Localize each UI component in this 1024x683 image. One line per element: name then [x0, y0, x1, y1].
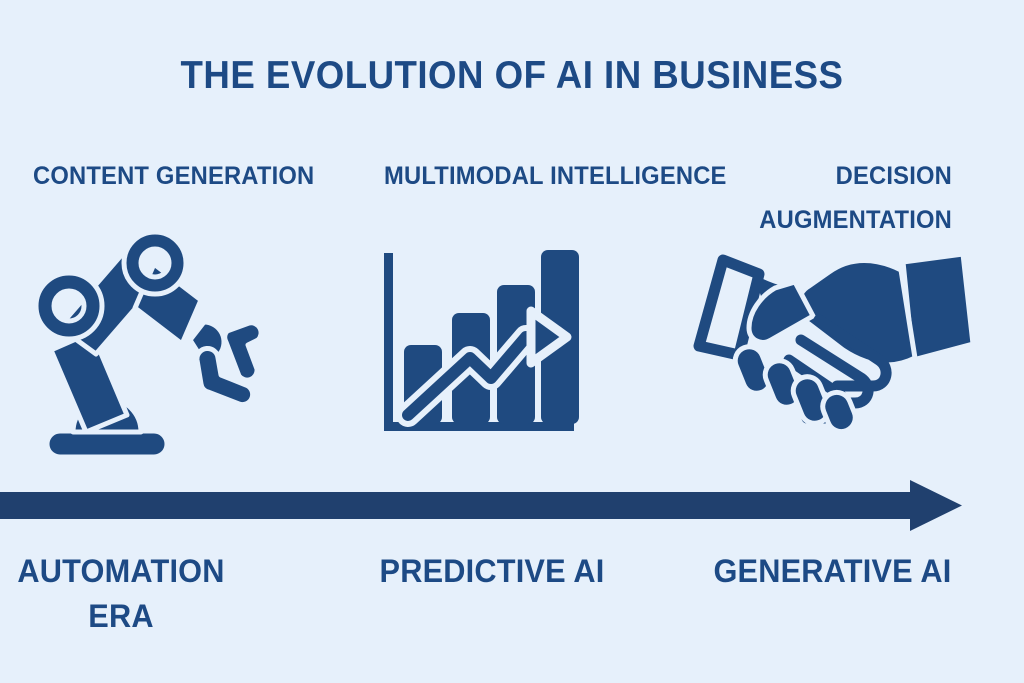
- handshake-icon: [691, 248, 979, 433]
- robotic-arm-icon: [14, 232, 282, 467]
- capability-label-decision-augmentation: DECISION AUGMENTATION: [656, 154, 952, 242]
- stage-label-line: GENERATIVE AI: [696, 549, 970, 594]
- stage-label-automation-era: AUTOMATION ERA: [0, 549, 247, 639]
- infographic-canvas: THE EVOLUTION OF AI IN BUSINESS CONTENT …: [0, 0, 1024, 683]
- capability-line: CONTENT GENERATION: [33, 154, 347, 198]
- stage-label-line: ERA: [0, 594, 247, 639]
- stage-label-predictive-ai: PREDICTIVE AI: [367, 549, 617, 594]
- timeline-arrow: [0, 478, 1024, 534]
- capability-line: AUGMENTATION: [656, 198, 952, 242]
- capability-line: DECISION: [656, 154, 952, 198]
- stage-label-generative-ai: GENERATIVE AI: [696, 549, 970, 594]
- stage-label-line: PREDICTIVE AI: [367, 549, 617, 594]
- page-title: THE EVOLUTION OF AI IN BUSINESS: [31, 54, 994, 98]
- bar-chart-growth-icon: [378, 247, 583, 447]
- stage-label-line: AUTOMATION: [0, 549, 247, 594]
- capability-label-content-generation: CONTENT GENERATION: [33, 154, 347, 198]
